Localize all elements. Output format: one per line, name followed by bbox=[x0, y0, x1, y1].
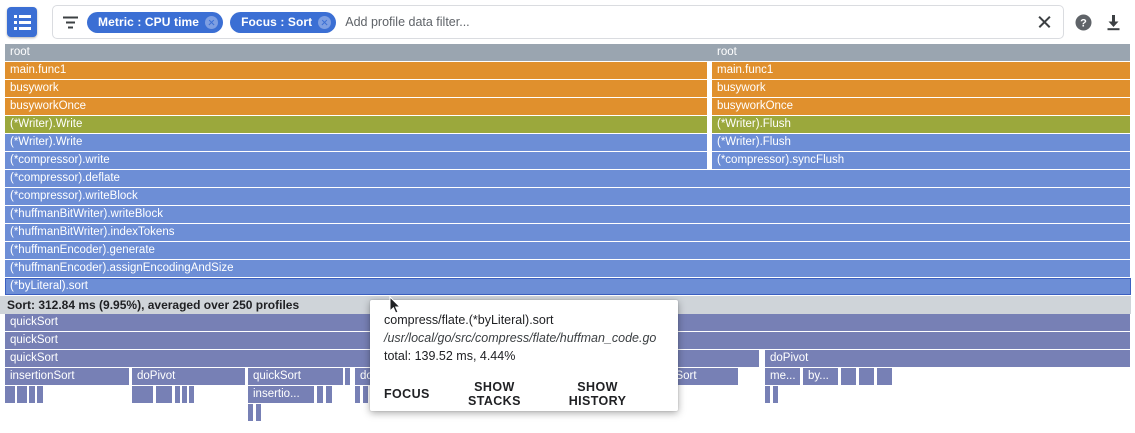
download-icon[interactable] bbox=[1100, 9, 1126, 35]
frame-lower-5-0[interactable] bbox=[248, 404, 254, 421]
frame-label: (*Writer).Flush bbox=[717, 118, 791, 130]
frame-tooltip[interactable]: compress/flate.(*byLiteral).sort /usr/lo… bbox=[370, 300, 678, 411]
frame-lower-3-8[interactable] bbox=[841, 368, 857, 385]
frame-lower-4-13[interactable] bbox=[363, 386, 369, 403]
filter-funnel-icon[interactable] bbox=[53, 6, 87, 38]
frame-label: busyworkOnce bbox=[10, 100, 86, 112]
frame-lower-4-10[interactable] bbox=[317, 386, 324, 403]
frame-lower-3-1[interactable]: doPivot bbox=[132, 368, 246, 385]
frame-lower-3-9[interactable] bbox=[859, 368, 875, 385]
frame-lower-4-7[interactable] bbox=[182, 386, 188, 403]
frame-3-left[interactable]: busyworkOnce bbox=[5, 98, 708, 115]
chip-label: Metric : CPU time bbox=[98, 15, 199, 29]
frame-lower-4-11[interactable] bbox=[326, 386, 333, 403]
frame-label: quickSort bbox=[10, 316, 58, 328]
frame-label: (*compressor).writeBlock bbox=[10, 190, 138, 202]
close-icon[interactable] bbox=[1029, 7, 1059, 37]
frame-lower-4-9[interactable]: insertio... bbox=[248, 386, 315, 403]
frame-0-right[interactable]: root bbox=[712, 44, 1131, 61]
frame-label: insertio... bbox=[253, 388, 300, 400]
filter-chip-focus[interactable]: Focus : Sort bbox=[230, 12, 336, 33]
frame-label: main.func1 bbox=[717, 64, 773, 76]
frame-lower-4-5[interactable] bbox=[156, 386, 173, 403]
frame-label: (*Writer).Flush bbox=[717, 136, 791, 148]
frame-lower-4-14[interactable] bbox=[765, 386, 771, 403]
frame-6-left[interactable]: (*compressor).write bbox=[5, 152, 708, 169]
frame-label: (*huffmanBitWriter).writeBlock bbox=[10, 208, 163, 220]
frame-label: quickSort bbox=[253, 370, 301, 382]
frame-label: main.func1 bbox=[10, 64, 66, 76]
tooltip-total: total: 139.52 ms, 4.44% bbox=[384, 347, 664, 365]
tooltip-function-name: compress/flate.(*byLiteral).sort bbox=[384, 312, 664, 329]
frame-3-right[interactable]: busyworkOnce bbox=[712, 98, 1131, 115]
frame-lower-3-2[interactable]: quickSort bbox=[248, 368, 344, 385]
frame-2-left[interactable]: busywork bbox=[5, 80, 708, 97]
frame-5-right[interactable]: (*Writer).Flush bbox=[712, 134, 1131, 151]
frame-label: (*huffmanEncoder).assignEncodingAndSize bbox=[10, 262, 234, 274]
list-menu-icon bbox=[14, 15, 31, 30]
frame-label: insertionSort bbox=[10, 370, 75, 382]
frame-lower-4-8[interactable] bbox=[189, 386, 195, 403]
frame-9-left[interactable]: (*huffmanBitWriter).writeBlock bbox=[5, 206, 1131, 223]
frame-13-left[interactable]: (*byLiteral).sort bbox=[5, 278, 1131, 295]
frame-label: me... bbox=[770, 370, 796, 382]
frame-label: (*Writer).Write bbox=[10, 118, 82, 130]
frame-lower-4-12[interactable] bbox=[355, 386, 361, 403]
frame-label: by... bbox=[808, 370, 829, 382]
tooltip-actions: FOCUS SHOW STACKS SHOW HISTORY bbox=[384, 377, 664, 411]
frame-lower-2-1[interactable]: doPivot bbox=[765, 350, 1131, 367]
frame-1-left[interactable]: main.func1 bbox=[5, 62, 708, 79]
frame-7-left[interactable]: (*compressor).deflate bbox=[5, 170, 1131, 187]
frame-label: root bbox=[717, 46, 737, 58]
frame-lower-4-4[interactable] bbox=[132, 386, 154, 403]
frame-lower-4-2[interactable] bbox=[29, 386, 36, 403]
frame-lower-5-1[interactable] bbox=[256, 404, 262, 421]
frame-1-right[interactable]: main.func1 bbox=[712, 62, 1131, 79]
frame-12-left[interactable]: (*huffmanEncoder).assignEncodingAndSize bbox=[5, 260, 1131, 277]
frame-4-left[interactable]: (*Writer).Write bbox=[5, 116, 708, 133]
frame-label: (*byLiteral).sort bbox=[10, 280, 88, 292]
menu-button[interactable] bbox=[7, 7, 37, 37]
frame-label: (*compressor).deflate bbox=[10, 172, 120, 184]
frame-lower-3-3[interactable] bbox=[345, 368, 351, 385]
frame-label: (*compressor).write bbox=[10, 154, 110, 166]
frame-lower-4-15[interactable] bbox=[773, 386, 779, 403]
frame-lower-4-0[interactable] bbox=[5, 386, 16, 403]
search-input[interactable] bbox=[343, 7, 1029, 37]
show-stacks-button[interactable]: SHOW STACKS bbox=[458, 380, 531, 408]
frame-label: busywork bbox=[10, 82, 59, 94]
svg-text:?: ? bbox=[1080, 17, 1087, 29]
filter-chip-metric[interactable]: Metric : CPU time bbox=[87, 12, 223, 33]
frame-lower-3-0[interactable]: insertionSort bbox=[5, 368, 130, 385]
frame-lower-3-6[interactable]: me... bbox=[765, 368, 801, 385]
frame-lower-4-1[interactable] bbox=[17, 386, 28, 403]
tooltip-file-path: /usr/local/go/src/compress/flate/huffman… bbox=[384, 329, 664, 347]
help-circle-icon[interactable]: ? bbox=[1070, 9, 1096, 35]
chip-remove-icon[interactable] bbox=[318, 16, 331, 29]
chip-label: Focus : Sort bbox=[241, 15, 312, 29]
frame-lower-3-7[interactable]: by... bbox=[803, 368, 839, 385]
frame-2-right[interactable]: busywork bbox=[712, 80, 1131, 97]
frame-label: (*Writer).Write bbox=[10, 136, 82, 148]
frame-label: busyworkOnce bbox=[717, 100, 793, 112]
mouse-cursor bbox=[389, 296, 402, 320]
show-history-button[interactable]: SHOW HISTORY bbox=[559, 380, 636, 408]
chip-remove-icon[interactable] bbox=[205, 16, 218, 29]
frame-4-right[interactable]: (*Writer).Flush bbox=[712, 116, 1131, 133]
frame-lower-3-10[interactable] bbox=[877, 368, 893, 385]
frame-label: quickSort bbox=[10, 334, 58, 346]
frame-5-left[interactable]: (*Writer).Write bbox=[5, 134, 708, 151]
frame-lower-4-6[interactable] bbox=[175, 386, 181, 403]
filter-bar[interactable]: Metric : CPU time Focus : Sort bbox=[52, 5, 1064, 39]
frame-label: (*huffmanEncoder).generate bbox=[10, 244, 155, 256]
frame-label: (*huffmanBitWriter).indexTokens bbox=[10, 226, 174, 238]
frame-label: doPivot bbox=[770, 352, 808, 364]
frame-8-left[interactable]: (*compressor).writeBlock bbox=[5, 188, 1131, 205]
frame-6-right[interactable]: (*compressor).syncFlush bbox=[712, 152, 1131, 169]
frame-11-left[interactable]: (*huffmanEncoder).generate bbox=[5, 242, 1131, 259]
frame-label: (*compressor).syncFlush bbox=[717, 154, 844, 166]
focus-button[interactable]: FOCUS bbox=[384, 387, 430, 401]
frame-lower-4-3[interactable] bbox=[37, 386, 44, 403]
frame-label: doPivot bbox=[137, 370, 175, 382]
toolbar: Metric : CPU time Focus : Sort ? bbox=[0, 0, 1135, 44]
pprof-flamegraph-app: Metric : CPU time Focus : Sort ? bbox=[0, 0, 1135, 433]
frame-label: busywork bbox=[717, 82, 766, 94]
frame-10-left[interactable]: (*huffmanBitWriter).indexTokens bbox=[5, 224, 1131, 241]
frame-label: quickSort bbox=[10, 352, 58, 364]
frame-label: root bbox=[10, 46, 30, 58]
